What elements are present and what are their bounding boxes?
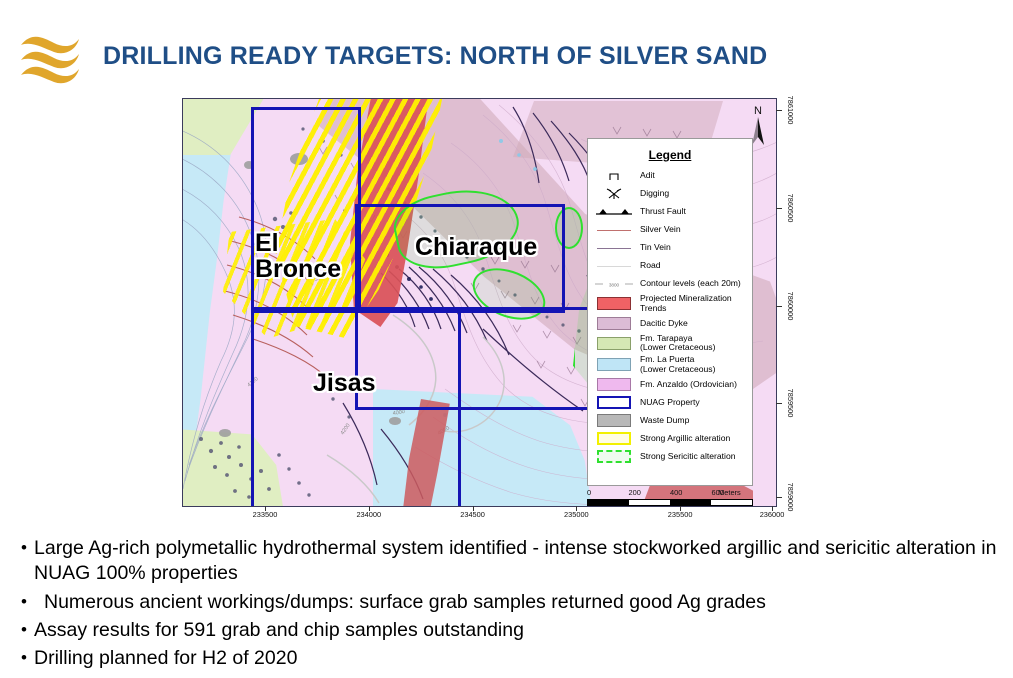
wave-logo: [18, 32, 82, 88]
y-axis-label: 7860000: [786, 291, 795, 320]
mineralization-swatch: [594, 297, 634, 311]
legend-item-anzaldo-swatch: Fm. Anzaldo (Ordovician): [588, 377, 752, 393]
bullet-text: Numerous ancient workings/dumps: surface…: [34, 590, 999, 615]
legend-item-waste-dump-swatch: Waste Dump: [588, 413, 752, 429]
legend-item-lapuerta-swatch: Fm. La Puerta(Lower Cretaceous): [588, 355, 752, 375]
legend-item-label: Strong Argillic alteration: [640, 434, 730, 444]
svg-text:3800: 3800: [609, 283, 620, 288]
waste-dump-swatch: [594, 414, 634, 428]
x-axis-label: 235000: [564, 510, 589, 519]
anzaldo-swatch: [594, 378, 634, 392]
legend-item-label: Tin Vein: [640, 243, 671, 253]
legend-item-nuag-property-swatch: NUAG Property: [588, 395, 752, 411]
y-axis-tick: [776, 110, 782, 111]
legend-item-label: Contour levels (each 20m): [640, 279, 741, 289]
argillic-swatch: [594, 432, 634, 446]
y-axis-tick: [776, 497, 782, 498]
silver-vein-symbol: [594, 223, 634, 237]
bullet-text: Large Ag-rich polymetallic hydrothermal …: [34, 536, 999, 587]
legend-item-label: Waste Dump: [640, 416, 689, 426]
legend-item-label: Fm. Tarapaya(Lower Cretaceous): [640, 334, 715, 354]
scale-label: 0: [587, 488, 591, 497]
bullet-marker: •: [14, 646, 34, 670]
bullet-marker: •: [14, 618, 34, 642]
adit-symbol: [594, 169, 634, 183]
y-axis-label: 7860500: [786, 193, 795, 222]
tin-vein-symbol: [594, 241, 634, 255]
legend-item-label: Thrust Fault: [640, 207, 686, 217]
tarapaya-swatch: [594, 336, 634, 350]
legend-rows: AditDiggingThrust FaultSilver VeinTin Ve…: [588, 168, 752, 465]
map-legend: Legend AditDiggingThrust FaultSilver Vei…: [587, 138, 753, 486]
legend-item-sericitic-swatch: Strong Sericitic alteration: [588, 449, 752, 465]
legend-item-label: Dacitic Dyke: [640, 319, 688, 329]
legend-item-thrust-fault-symbol: Thrust Fault: [588, 204, 752, 220]
legend-item-label: Silver Vein: [640, 225, 681, 235]
bullet-text: Assay results for 591 grab and chip samp…: [34, 618, 999, 643]
nuag-property-swatch: [594, 396, 634, 410]
x-axis-label: 234000: [356, 510, 381, 519]
x-axis-label: 235500: [668, 510, 693, 519]
x-axis-label: 233500: [253, 510, 278, 519]
y-axis-label: 7859500: [786, 389, 795, 418]
scale-unit-label: Meters: [718, 488, 741, 497]
scale-bar: 0200400600Meters: [587, 488, 753, 506]
target-label-el-bronce: El Bronce: [255, 231, 341, 282]
legend-item-label: NUAG Property: [640, 398, 700, 408]
bullet-marker: •: [14, 590, 34, 614]
legend-item-label: Fm. La Puerta(Lower Cretaceous): [640, 355, 715, 375]
y-axis-tick: [776, 403, 782, 404]
legend-item-label: Fm. Anzaldo (Ordovician): [640, 380, 737, 390]
legend-item-mineralization-swatch: Projected Mineralization Trends: [588, 294, 752, 314]
slide-header: DRILLING READY TARGETS: NORTH OF SILVER …: [0, 0, 1013, 98]
legend-item-digging-symbol: Digging: [588, 186, 752, 202]
y-axis-label: 7861000: [786, 96, 795, 125]
legend-item-label: Road: [640, 261, 661, 271]
bullet-list: •Large Ag-rich polymetallic hydrothermal…: [14, 536, 999, 675]
x-axis-label: 234500: [460, 510, 485, 519]
legend-item-silver-vein-symbol: Silver Vein: [588, 222, 752, 238]
map-figure: 3700 4100 4200 4000 4000 El Bronce Chiar…: [182, 98, 779, 509]
bullet-item: •Assay results for 591 grab and chip sam…: [14, 618, 999, 643]
legend-item-tarapaya-swatch: Fm. Tarapaya(Lower Cretaceous): [588, 334, 752, 354]
road-symbol: [594, 259, 634, 273]
lapuerta-swatch: [594, 358, 634, 372]
digging-symbol: [594, 187, 634, 201]
scale-label: 200: [629, 488, 641, 497]
target-label-jisas: Jisas: [313, 371, 376, 397]
nuag-property-jisas[interactable]: [251, 307, 461, 507]
contour-symbol: 3800: [594, 277, 634, 291]
scale-bar-labels: 0200400600Meters: [587, 488, 753, 499]
bullet-item: •Drilling planned for H2 of 2020: [14, 646, 999, 671]
y-axis-tick: [776, 306, 782, 307]
legend-item-dacitic-dyke-swatch: Dacitic Dyke: [588, 316, 752, 332]
map-canvas[interactable]: 3700 4100 4200 4000 4000 El Bronce Chiar…: [182, 98, 777, 507]
legend-item-road-symbol: Road: [588, 258, 752, 274]
legend-item-label: Strong Sericitic alteration: [640, 452, 736, 462]
legend-title: Legend: [588, 148, 752, 162]
page-title: DRILLING READY TARGETS: NORTH OF SILVER …: [103, 42, 767, 71]
scale-bar-segments: [587, 499, 753, 506]
y-axis-label: 7859000: [786, 482, 795, 511]
legend-item-label: Projected Mineralization Trends: [640, 294, 752, 314]
bullet-item: •Numerous ancient workings/dumps: surfac…: [14, 590, 999, 615]
thrust-fault-symbol: [594, 205, 634, 219]
legend-item-adit-symbol: Adit: [588, 168, 752, 184]
bullet-item: •Large Ag-rich polymetallic hydrothermal…: [14, 536, 999, 587]
x-axis-label: 236000: [760, 510, 785, 519]
map-y-axis: 78610007860500786000078595007859000: [776, 98, 810, 505]
legend-item-label: Digging: [640, 189, 669, 199]
sericitic-swatch: [594, 450, 634, 464]
dacitic-dyke-swatch: [594, 317, 634, 331]
svg-text:N: N: [754, 105, 762, 117]
bullet-marker: •: [14, 536, 34, 560]
bullet-text: Drilling planned for H2 of 2020: [34, 646, 999, 671]
scale-label: 400: [670, 488, 682, 497]
legend-item-label: Adit: [640, 171, 655, 181]
y-axis-tick: [776, 208, 782, 209]
target-label-chiaraque: Chiaraque: [415, 235, 537, 261]
legend-item-contour-symbol: 3800Contour levels (each 20m): [588, 276, 752, 292]
legend-item-argillic-swatch: Strong Argillic alteration: [588, 431, 752, 447]
map-x-axis: 233500234000234500235000235500236000: [182, 506, 775, 524]
legend-item-tin-vein-symbol: Tin Vein: [588, 240, 752, 256]
